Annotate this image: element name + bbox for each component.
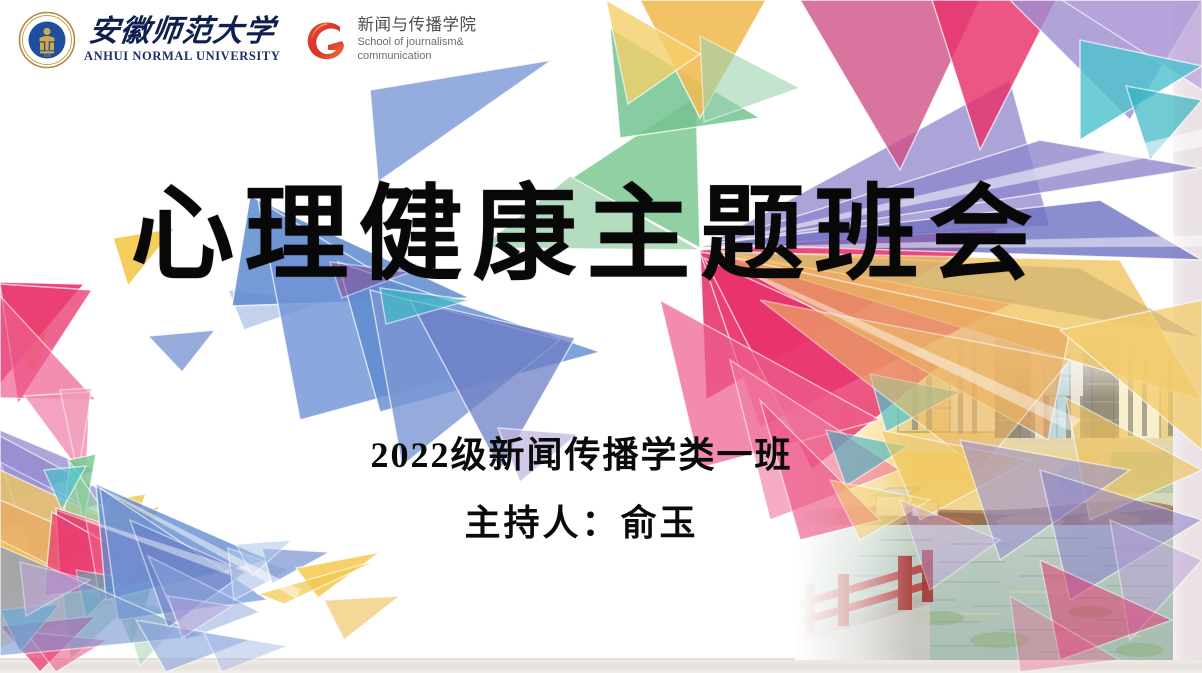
school-name-en-line2: communication [357, 50, 476, 64]
subtitle-host: 主持人：俞玉 [0, 494, 1163, 546]
university-name-en: ANHUI NORMAL UNIVERSITY [84, 49, 280, 64]
university-name-cn: 安徽师范大学 [87, 16, 277, 48]
slide-header-logos: 1928 安徽师范大学 ANHUI NORMAL UNIVERSITY [18, 8, 476, 72]
campus-library-watercolor-illustration [0, 0, 1202, 673]
top-right-triangle-decoration [0, 0, 1202, 673]
school-of-journalism-swoosh-logo-icon [302, 16, 350, 64]
page-title: 心理健康主题班会 [0, 176, 1173, 296]
subtitle-class: 2022级新闻传播学类一班 [0, 426, 1163, 478]
bottom-left-triangle-decoration [0, 0, 1202, 673]
slide-right-border [1173, 0, 1202, 673]
school-name-block: 新闻与传播学院 School of journalism& communicat… [357, 16, 476, 64]
seal-year: 1928 [43, 54, 50, 58]
slide-bottom-border [0, 660, 1202, 673]
school-name-cn: 新闻与传播学院 [357, 16, 476, 35]
anhui-normal-university-seal-icon: 1928 [18, 11, 76, 69]
school-name-en-line1: School of journalism& [357, 36, 476, 50]
university-name-block: 安徽师范大学 ANHUI NORMAL UNIVERSITY [84, 16, 280, 64]
presentation-slide: 1928 安徽师范大学 ANHUI NORMAL UNIVERSITY [0, 0, 1202, 673]
